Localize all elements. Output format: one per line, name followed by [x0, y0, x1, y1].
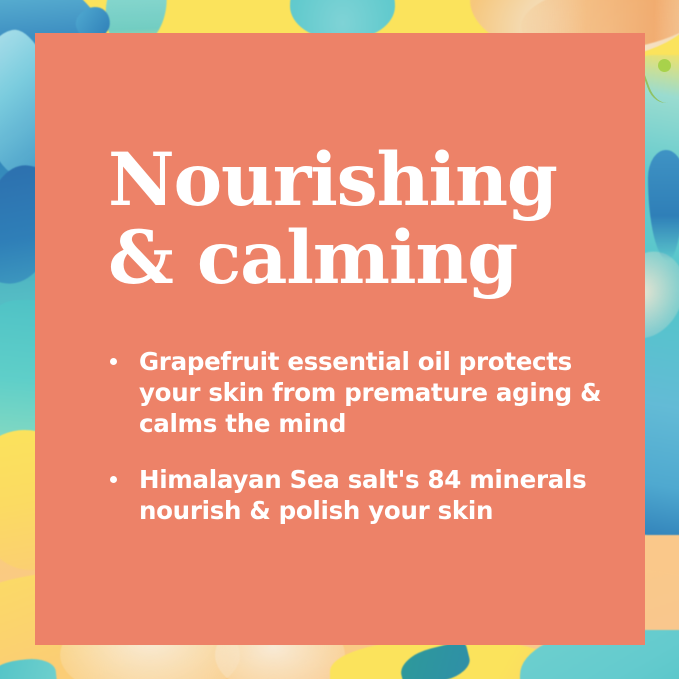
list-item: Himalayan Sea salt's 84 minerals nourish… [108, 464, 628, 526]
bullet-dot-icon [110, 358, 117, 365]
poster-canvas: Nourishing & calming Grapefruit essentia… [0, 0, 679, 679]
benefits-list: Grapefruit essential oil protects your s… [108, 346, 628, 526]
list-item: Grapefruit essential oil protects your s… [108, 346, 628, 439]
bullet-dot-icon [110, 476, 117, 483]
content-panel: Nourishing & calming Grapefruit essentia… [35, 33, 645, 645]
list-item-label: Himalayan Sea salt's 84 minerals nourish… [139, 464, 628, 526]
page-title: Nourishing & calming [108, 141, 608, 297]
list-item-label: Grapefruit essential oil protects your s… [139, 346, 628, 439]
